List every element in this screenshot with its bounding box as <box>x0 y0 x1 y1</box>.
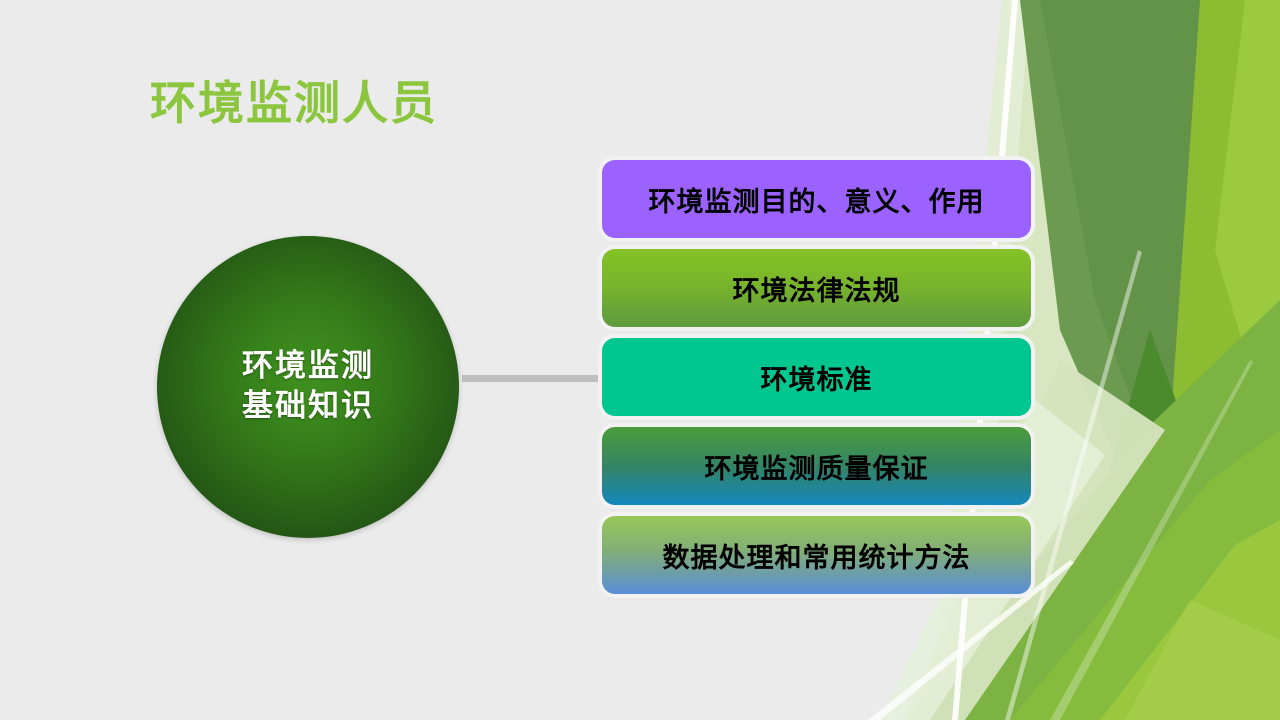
facet-shape-light-green <box>1215 0 1280 470</box>
node-box-2[interactable]: 环境法律法规 <box>602 249 1031 327</box>
node-box-1-label: 环境监测目的、意义、作用 <box>649 180 985 219</box>
presentation-slide: 环境监测人员 环境监测 基础知识 环境监测目的、意义、作用 环境法律法规 环境标… <box>0 0 1280 720</box>
facet-shape-mid-green-lower2 <box>1010 430 1280 720</box>
center-node-label-line1: 环境监测 <box>242 347 374 387</box>
center-node-label-line2: 基础知识 <box>242 387 374 427</box>
facet-shape-bottom-light <box>1125 600 1280 720</box>
facet-shape-bottom-bright <box>1100 520 1280 720</box>
node-box-3[interactable]: 环境标准 <box>602 338 1031 416</box>
node-box-4-label: 环境监测质量保证 <box>705 447 929 486</box>
facet-shape-bright-green <box>1150 0 1280 720</box>
node-box-2-label: 环境法律法规 <box>733 269 901 308</box>
facet-shape-muted-green <box>1020 0 1210 560</box>
facet-shape-muted-green-2 <box>1040 0 1230 520</box>
node-box-5-label: 数据处理和常用统计方法 <box>663 536 971 575</box>
center-circle-node[interactable]: 环境监测 基础知识 <box>157 236 459 538</box>
node-list: 环境监测目的、意义、作用 环境法律法规 环境标准 环境监测质量保证 数据处理和常… <box>602 160 1031 594</box>
connector-line <box>462 375 603 382</box>
node-box-5[interactable]: 数据处理和常用统计方法 <box>602 516 1031 594</box>
facet-shape-deep-green <box>1110 330 1205 620</box>
node-box-1[interactable]: 环境监测目的、意义、作用 <box>602 160 1031 238</box>
node-box-4[interactable]: 环境监测质量保证 <box>602 427 1031 505</box>
page-title: 环境监测人员 <box>150 78 438 129</box>
facet-hairline-diag <box>1050 360 1253 720</box>
node-box-3-label: 环境标准 <box>761 358 873 397</box>
